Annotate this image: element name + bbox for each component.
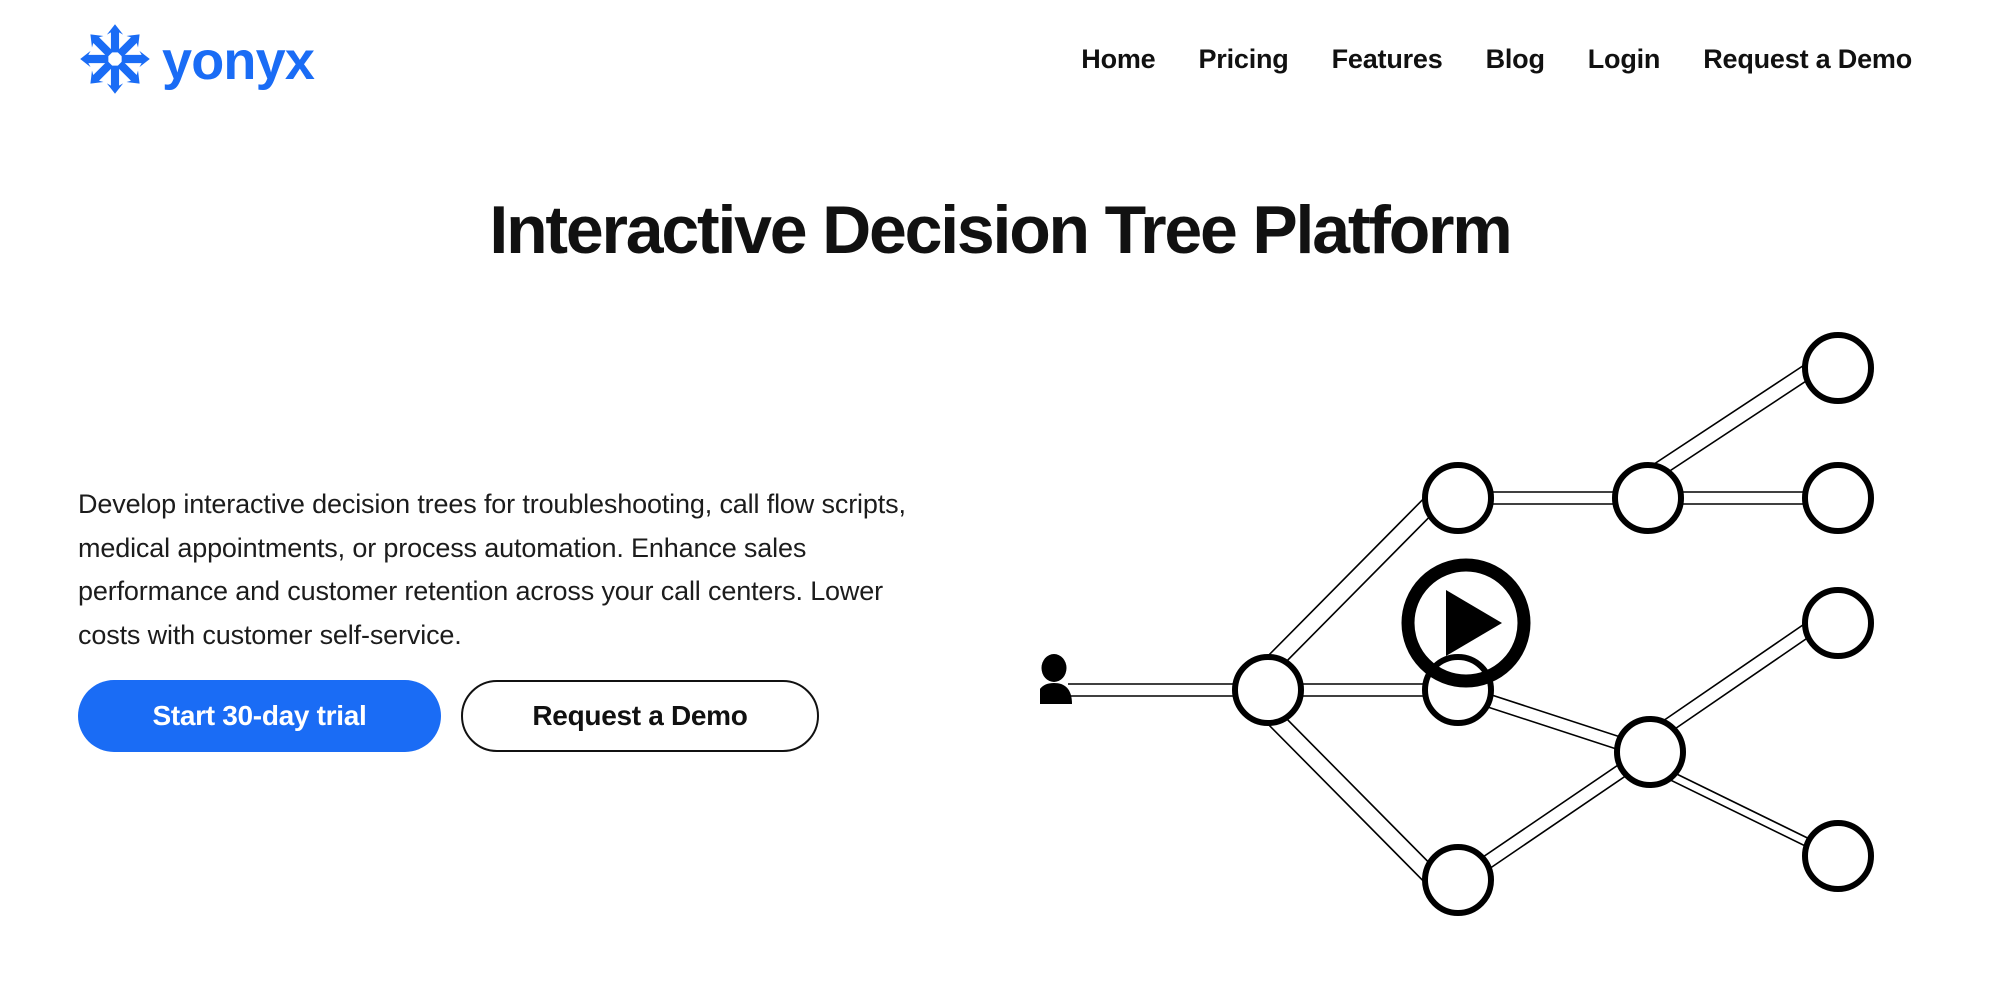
radial-arrow-burst-icon <box>78 22 152 96</box>
tree-node-leaf-4 <box>1805 823 1871 889</box>
tree-node-root <box>1235 657 1301 723</box>
decision-tree-svg <box>1040 330 1940 950</box>
brand-wordmark: yonyx <box>162 34 314 88</box>
start-trial-button[interactable]: Start 30-day trial <box>78 680 441 752</box>
primary-navigation: Home Pricing Features Blog Login Request… <box>1081 44 1932 75</box>
nav-item-pricing[interactable]: Pricing <box>1198 44 1288 75</box>
tree-node-leaf-2 <box>1805 465 1871 531</box>
nav-item-home[interactable]: Home <box>1081 44 1155 75</box>
brand-logo[interactable]: yonyx <box>78 23 314 95</box>
tree-node-leaf-3 <box>1805 590 1871 656</box>
tree-node-hub-lower <box>1617 719 1683 785</box>
tree-node-leaf-1 <box>1805 335 1871 401</box>
hero-description: Develop interactive decision trees for t… <box>78 483 908 658</box>
request-demo-button[interactable]: Request a Demo <box>461 680 819 752</box>
tree-node-branch-up <box>1425 465 1491 531</box>
tree-node-hub-upper <box>1615 465 1681 531</box>
cta-button-row: Start 30-day trial Request a Demo <box>78 680 819 752</box>
page-title: Interactive Decision Tree Platform <box>0 192 2000 268</box>
hero-copy-block: Develop interactive decision trees for t… <box>78 483 908 658</box>
decision-tree-illustration[interactable] <box>1040 330 1940 950</box>
nav-item-features[interactable]: Features <box>1332 44 1443 75</box>
landing-page: yonyx Home Pricing Features Blog Login R… <box>0 0 2000 996</box>
nav-item-login[interactable]: Login <box>1588 44 1660 75</box>
tree-node-branch-low <box>1425 847 1491 913</box>
nav-item-request-a-demo[interactable]: Request a Demo <box>1703 44 1912 75</box>
nav-item-blog[interactable]: Blog <box>1486 44 1545 75</box>
person-icon <box>1040 654 1072 704</box>
site-header: yonyx Home Pricing Features Blog Login R… <box>0 0 2000 118</box>
